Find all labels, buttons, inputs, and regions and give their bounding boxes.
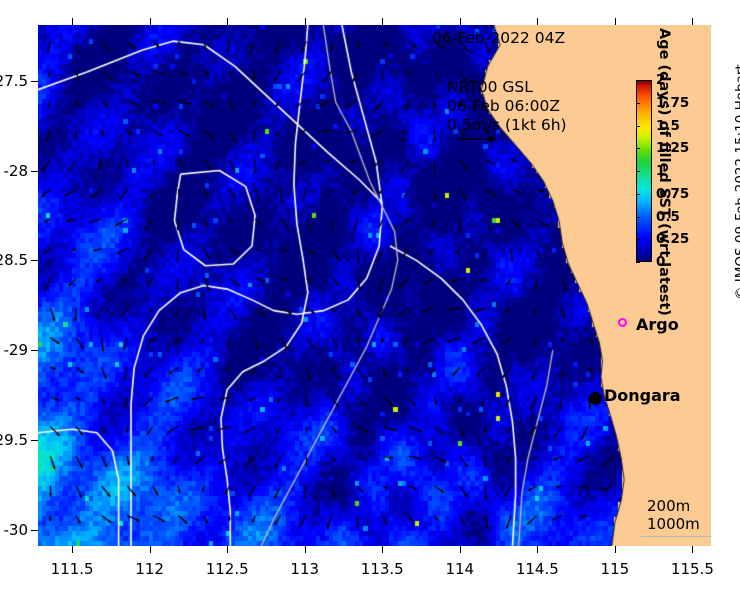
gsl-time-label: 06-Feb 06:00Z <box>447 97 567 116</box>
y-axis-tick <box>31 350 38 351</box>
x-axis-tick <box>692 18 693 25</box>
y-axis-label: -28.5 <box>0 251 28 269</box>
credit-label: © IMOS 09-Feb-2022 15:10 Hobart <box>733 64 740 300</box>
x-axis-label: 114 <box>445 560 474 578</box>
y-axis-label: -28 <box>4 162 29 180</box>
x-axis-tick <box>305 546 306 553</box>
colorbar-tick <box>636 194 640 195</box>
colorbar-tick-label: 2 <box>656 72 665 88</box>
x-axis-tick <box>537 18 538 25</box>
datestamp-label: 06-Feb-2022 04Z <box>432 29 565 47</box>
argo-label: Argo <box>636 315 679 334</box>
x-axis-tick <box>615 18 616 25</box>
y-axis-label: -29.5 <box>0 431 28 449</box>
argo-marker-icon <box>618 318 627 327</box>
x-axis-label: 111.5 <box>51 560 94 578</box>
x-axis-tick <box>615 546 616 553</box>
x-axis-tick <box>227 18 228 25</box>
y-axis-label: -27.5 <box>0 72 28 90</box>
x-axis-tick <box>692 546 693 553</box>
colorbar-tick-label: 0 <box>656 254 665 270</box>
colorbar-tick <box>636 126 640 127</box>
y-axis-tick <box>31 81 38 82</box>
right-arrow-icon <box>458 133 498 145</box>
colorbar-tick <box>636 148 640 149</box>
colorbar-tick-label: 1 <box>656 163 665 179</box>
colorbar-tick-label: 1.75 <box>656 95 689 111</box>
map-plot-area <box>38 25 711 546</box>
x-axis-label: 112.5 <box>206 560 249 578</box>
colorbar-tick <box>636 217 640 218</box>
x-axis-tick <box>460 546 461 553</box>
y-axis-tick <box>31 530 38 531</box>
x-axis-label: 113.5 <box>361 560 404 578</box>
colorbar-tick-label: 0.25 <box>656 231 689 247</box>
colorbar-tick <box>636 239 640 240</box>
x-axis-label: 113 <box>290 560 319 578</box>
colorbar-tick <box>636 103 640 104</box>
x-axis-tick <box>382 18 383 25</box>
y-axis-tick <box>31 260 38 261</box>
x-axis-tick <box>72 18 73 25</box>
map-overlays-contours-and-vectors <box>38 25 711 546</box>
x-axis-tick <box>305 18 306 25</box>
x-axis-tick <box>150 18 151 25</box>
colorbar-tick-label: 0.75 <box>656 186 689 202</box>
x-axis-tick <box>382 546 383 553</box>
x-axis-label: 115 <box>601 560 630 578</box>
y-axis-tick <box>31 440 38 441</box>
x-axis-label: 112 <box>135 560 164 578</box>
gsl-product-label: NRT00 GSL <box>447 78 567 97</box>
dongara-label: Dongara <box>604 386 681 405</box>
colorbar-tick <box>636 262 640 263</box>
x-axis-tick <box>460 18 461 25</box>
gsl-info-block: NRT00 GSL 06-Feb 06:00Z 0.5m/s (1kt 6h) <box>447 78 567 135</box>
colorbar-tick-label: 0.5 <box>656 209 680 225</box>
x-axis-tick <box>150 546 151 553</box>
colorbar-tick <box>636 80 640 81</box>
bathymetry-legend: 200m 1000m <box>647 497 700 533</box>
colorbar-tick <box>636 171 640 172</box>
x-axis-label: 115.5 <box>671 560 714 578</box>
bathy-1000m-label: 1000m <box>647 515 700 533</box>
y-axis-tick <box>31 171 38 172</box>
x-axis-tick <box>72 546 73 553</box>
colorbar-tick-label: 1.5 <box>656 118 680 134</box>
y-axis-label: -30 <box>4 521 29 539</box>
bathy-200m-label: 200m <box>647 497 700 515</box>
x-axis-label: 114.5 <box>516 560 559 578</box>
colorbar-tick-label: 1.25 <box>656 140 689 156</box>
x-axis-tick <box>227 546 228 553</box>
x-axis-tick <box>537 546 538 553</box>
dongara-marker-icon <box>589 392 602 405</box>
y-axis-label: -29 <box>4 341 29 359</box>
bathymetry-legend-rule <box>641 536 711 537</box>
